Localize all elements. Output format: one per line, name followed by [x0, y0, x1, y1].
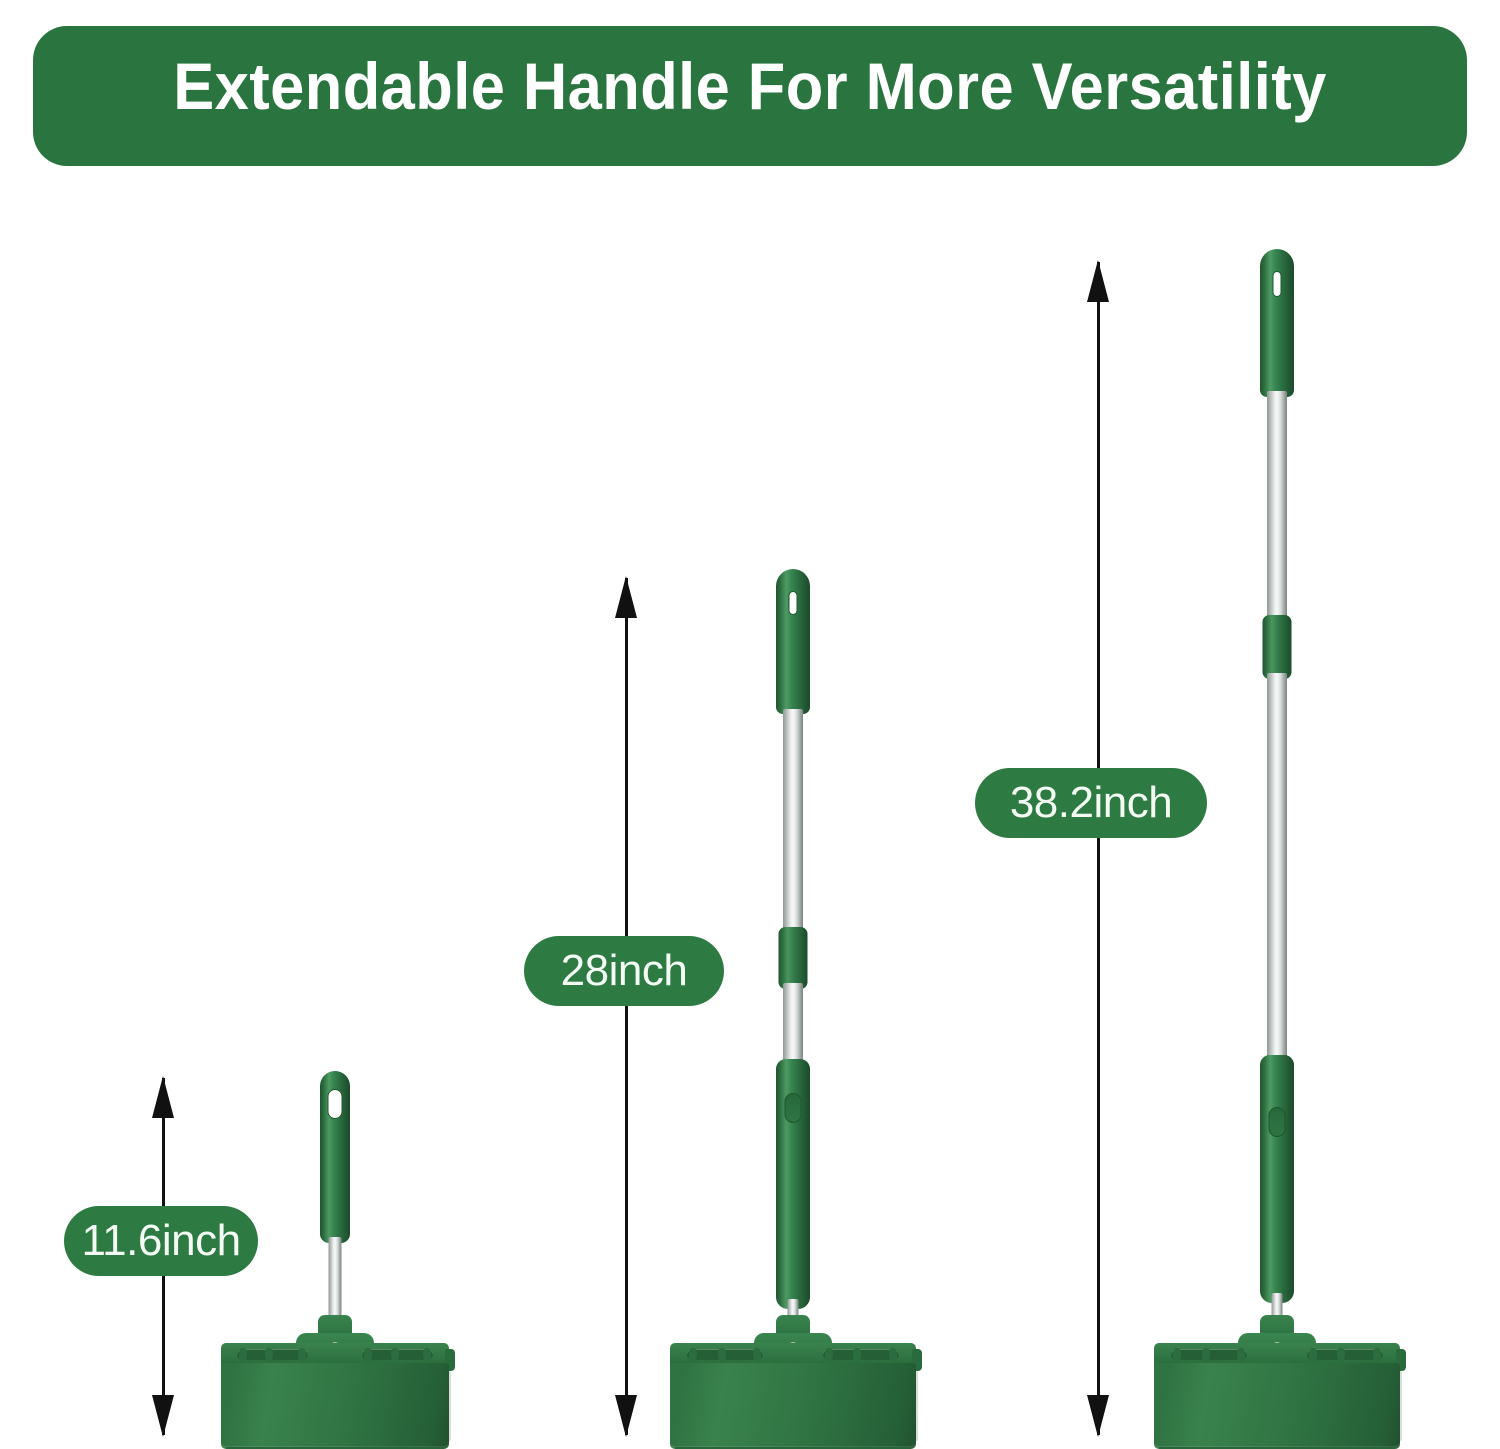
head-body — [1154, 1363, 1400, 1449]
clip-nub — [423, 1348, 431, 1361]
arrow-head-up — [615, 576, 637, 618]
clip-nub — [689, 1348, 697, 1361]
handle-grip-compact — [320, 1071, 350, 1243]
head-body — [670, 1363, 916, 1449]
pad-clip-left — [687, 1349, 763, 1360]
handle-grip-medium — [776, 569, 810, 714]
telescoping-collar-upper — [779, 927, 808, 989]
mop-head-compact — [221, 1319, 449, 1449]
metal-shaft-upper-extended — [1267, 391, 1287, 631]
head-body — [221, 1363, 449, 1449]
page-title: Extendable Handle For More Versatility — [83, 48, 1417, 124]
arrow-head-down — [1087, 1395, 1109, 1437]
arrow-head-up — [152, 1076, 174, 1118]
product-mop-medium — [668, 569, 918, 1449]
arrow-head-down — [152, 1395, 174, 1437]
measurement-label: 38.2inch — [1010, 778, 1172, 828]
arrow-head-up — [1087, 260, 1109, 302]
hang-hole-icon — [789, 591, 798, 615]
clip-nub — [265, 1348, 273, 1361]
mop-head-medium — [670, 1321, 916, 1449]
pad-clip-right — [823, 1349, 899, 1360]
dimension-arrow-medium — [613, 578, 639, 1435]
clip-nub — [1373, 1348, 1381, 1361]
clip-nub — [889, 1348, 897, 1361]
clip-nub — [364, 1348, 372, 1361]
arrow-shaft — [625, 578, 628, 1435]
metal-shaft-upper-medium — [783, 709, 803, 934]
product-mop-extended — [1152, 249, 1402, 1449]
clip-nub — [239, 1348, 247, 1361]
handle-lower-body-extended — [1260, 1055, 1294, 1303]
release-button[interactable] — [785, 1093, 802, 1123]
clip-nub — [825, 1348, 833, 1361]
handle-lower-body-medium — [776, 1059, 810, 1309]
clip-nub — [1173, 1348, 1181, 1361]
arrow-head-down — [615, 1395, 637, 1437]
metal-shaft-compact — [329, 1237, 342, 1325]
dimension-arrow-extended — [1085, 262, 1111, 1435]
clip-nub — [718, 1348, 726, 1361]
pad-clip-right — [1307, 1349, 1383, 1360]
clip-nub — [853, 1348, 861, 1361]
clip-nub — [391, 1348, 399, 1361]
pad-clip-left — [237, 1349, 308, 1360]
arrow-shaft — [1097, 262, 1100, 1435]
clip-nub — [1202, 1348, 1210, 1361]
release-button[interactable] — [1269, 1107, 1286, 1137]
pad-clip-right — [362, 1349, 433, 1360]
handle-grip-extended — [1260, 249, 1294, 397]
clip-nub — [753, 1348, 761, 1361]
clip-nub — [1309, 1348, 1317, 1361]
clip-nub — [1337, 1348, 1345, 1361]
header-banner: Extendable Handle For More Versatility — [33, 26, 1467, 166]
mop-head-extended — [1154, 1321, 1400, 1449]
hang-hole-icon — [328, 1089, 343, 1119]
clip-nub — [1237, 1348, 1245, 1361]
telescoping-collar-upper — [1263, 615, 1292, 679]
product-mop-compact — [215, 1059, 455, 1449]
hang-hole-icon — [1273, 271, 1282, 297]
infographic-canvas: Extendable Handle For More Versatility 1… — [0, 0, 1500, 1449]
metal-shaft-middle-extended — [1267, 673, 1287, 1063]
clip-nub — [298, 1348, 306, 1361]
pad-clip-left — [1171, 1349, 1247, 1360]
